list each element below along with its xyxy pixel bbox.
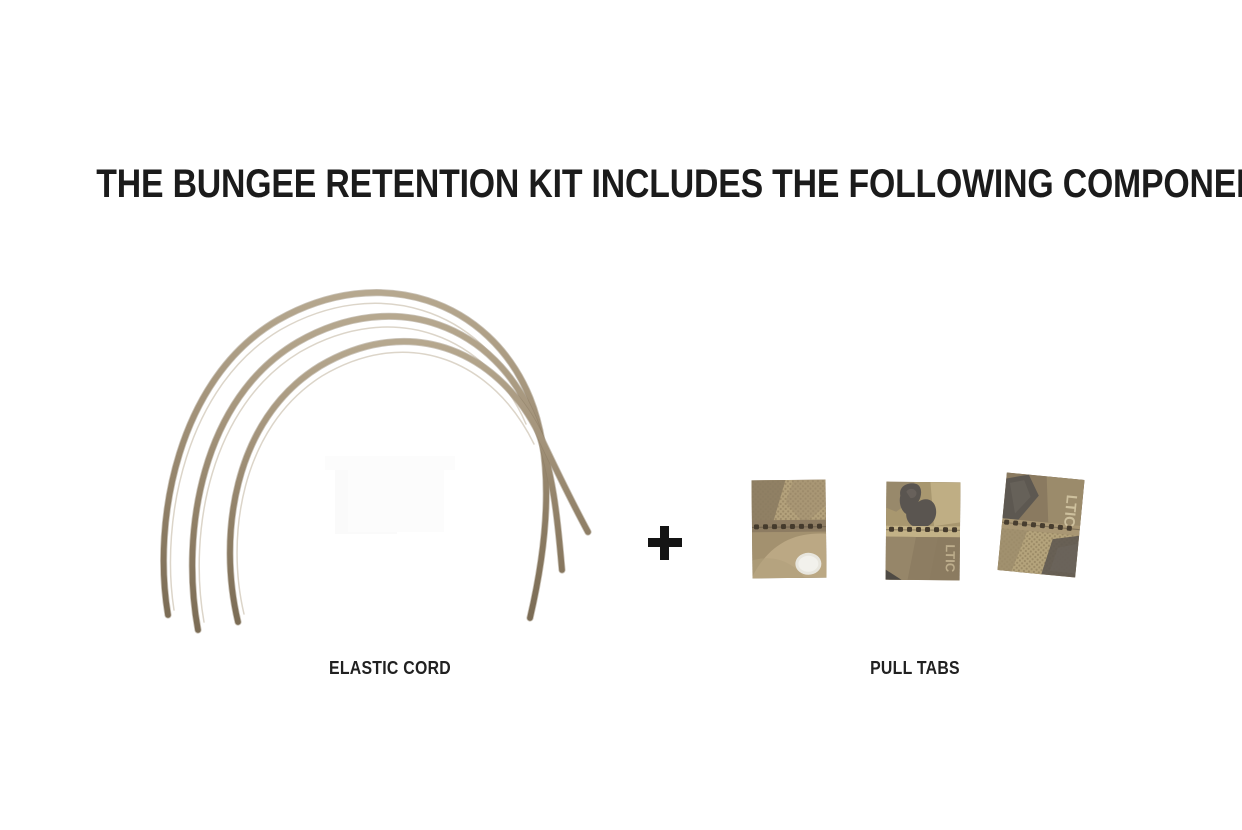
- caption-elastic-cord: ELASTIC CORD: [161, 658, 619, 679]
- pull-tab-item: [751, 480, 826, 579]
- pull-tab-item: LTIC: [997, 472, 1084, 577]
- elastic-cord-illustration: [130, 270, 650, 640]
- fabric-print-text: LTIC: [943, 544, 958, 573]
- plus-vertical-bar: [660, 526, 669, 560]
- component-elastic-cord: ELASTIC CORD: [130, 270, 650, 690]
- fabric-print-text: LTIC: [1060, 494, 1080, 528]
- pull-tab-group: LTIC: [720, 270, 1110, 640]
- component-overview-page: THE BUNGEE RETENTION KIT INCLUDES THE FO…: [0, 0, 1242, 830]
- background-artifact: [325, 456, 455, 534]
- component-pull-tabs: LTIC: [720, 270, 1110, 690]
- pull-tabs-illustration: LTIC: [720, 270, 1110, 640]
- pull-tab-item: LTIC: [886, 482, 961, 581]
- page-title: THE BUNGEE RETENTION KIT INCLUDES THE FO…: [96, 162, 1145, 206]
- elastic-cord-strand-outer: [164, 293, 547, 618]
- plus-symbol-icon: [646, 525, 684, 563]
- caption-pull-tabs: PULL TABS: [743, 658, 1086, 679]
- components-row: ELASTIC CORD: [0, 270, 1242, 690]
